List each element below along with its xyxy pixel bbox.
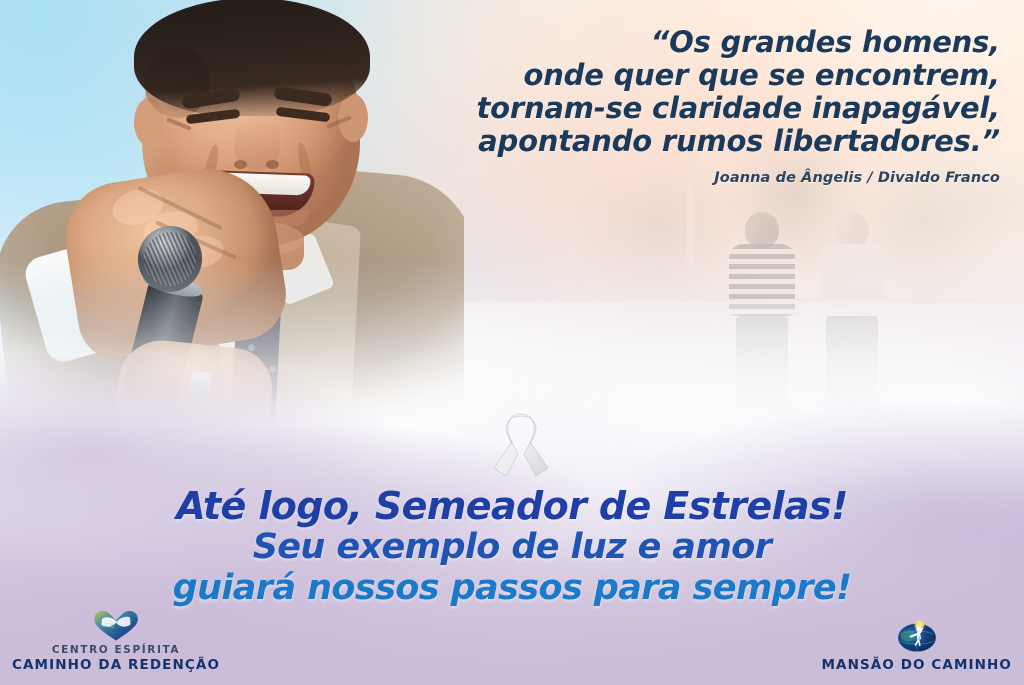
quote-line-2: onde quer que se encontrem, [340, 59, 1000, 92]
quote-line-4: apontando rumos libertadores.” [340, 125, 1000, 158]
headline-line-2: Seu exemplo de luz e amor [0, 528, 1024, 567]
memorial-ribbon-icon [484, 410, 558, 484]
logo-right-line-1: MANSÃO DO CAMINHO [822, 657, 1013, 673]
heart-hands-icon [85, 608, 147, 642]
logo-left-line-2: CAMINHO DA REDENÇÃO [12, 657, 220, 673]
quote-line-3: tornam-se claridade inapagável, [340, 92, 1000, 125]
headline-line-3: guiará nossos passos para sempre! [0, 569, 1024, 608]
headline-line-1: Até logo, Semeador de Estrelas! [0, 486, 1024, 526]
quote-line-1: “Os grandes homens, [340, 26, 1000, 59]
quote-attribution: Joanna de Ângelis / Divaldo Franco [340, 170, 1000, 186]
headline-block: Até logo, Semeador de Estrelas! Seu exem… [0, 486, 1024, 608]
logo-mansao-do-caminho: MANSÃO DO CAMINHO [822, 619, 1013, 673]
memorial-poster: “Os grandes homens, onde quer que se enc… [0, 0, 1024, 685]
quote-block: “Os grandes homens, onde quer que se enc… [340, 26, 1000, 186]
globe-figure-torch-icon [892, 619, 942, 653]
logo-centro-espirita: CENTRO ESPÍRITA CAMINHO DA REDENÇÃO [12, 608, 220, 673]
logo-left-line-1: CENTRO ESPÍRITA [52, 644, 180, 656]
